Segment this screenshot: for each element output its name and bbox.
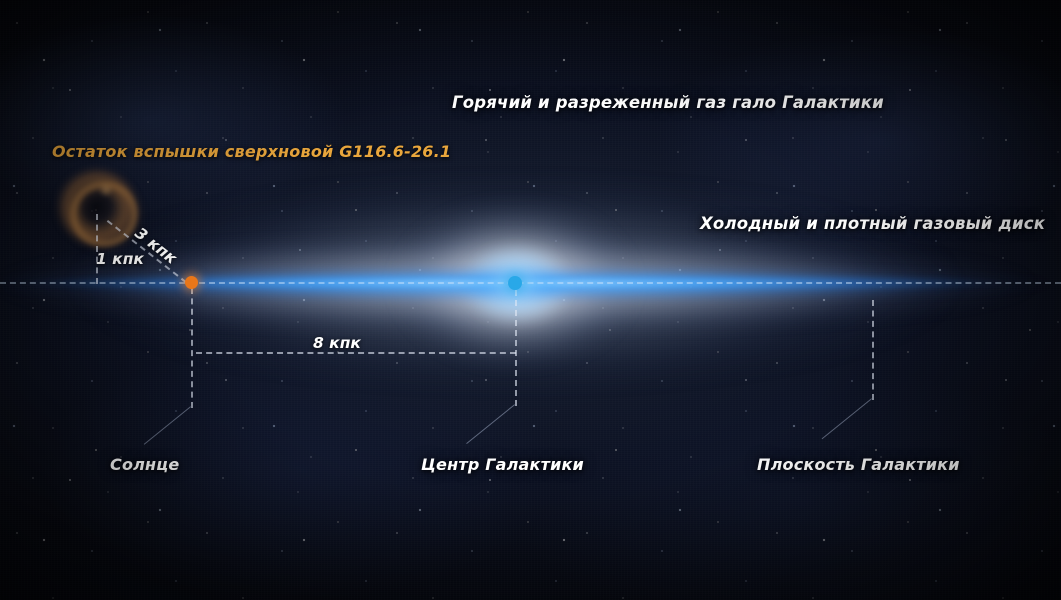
galaxy-cross-section-diagram: 1 кпк 3 кпк 8 кпк Остаток вспышки сверхн… <box>0 0 1061 600</box>
vignette-overlay <box>0 0 1061 600</box>
